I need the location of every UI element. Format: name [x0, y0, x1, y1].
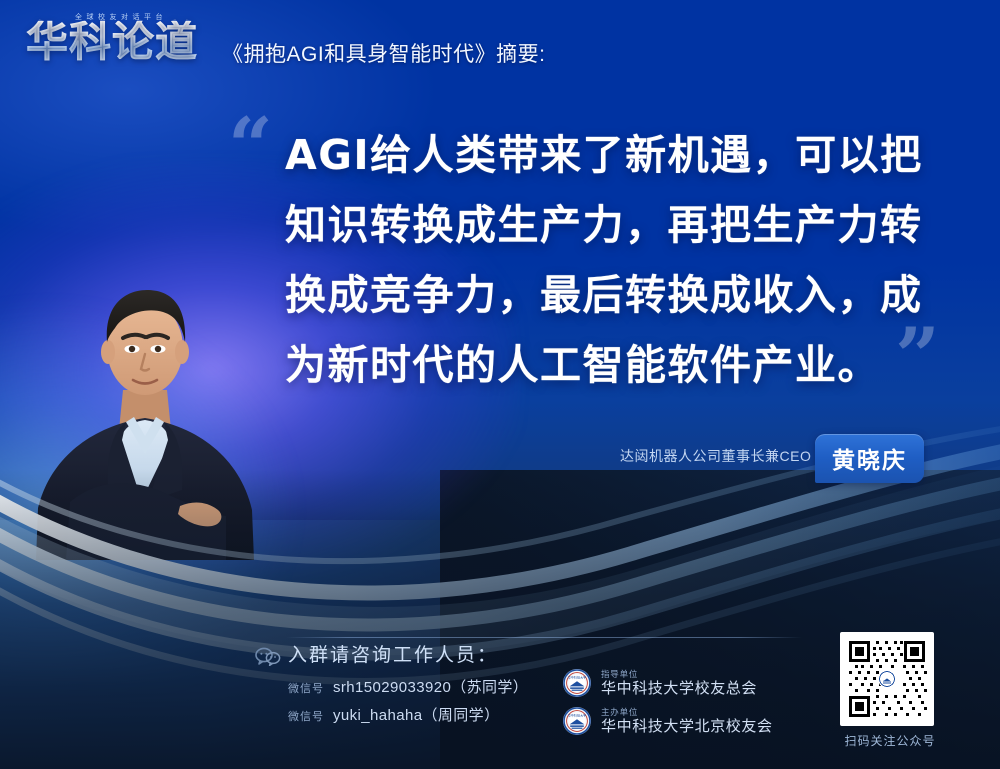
qr-block: 扫码关注公众号 [840, 632, 940, 749]
contact-value: yuki_hahaha（周同学） [333, 704, 499, 725]
organization-row: 华中科技大学 主办单位 华中科技大学北京校友会 [562, 706, 773, 736]
speaker-attribution: 达闼机器人公司董事长兼CEO 黄晓庆 [620, 446, 811, 466]
svg-text:华中科技大学: 华中科技大学 [568, 713, 587, 718]
contact-label: 微信号 [288, 708, 324, 724]
organization-kind: 主办单位 [601, 707, 773, 718]
organization-name: 华中科技大学校友总会 [601, 680, 757, 698]
speaker-name-badge: 黄晓庆 [815, 434, 924, 483]
poster-canvas: 全球校友对话平台 华科论道 《拥抱AGI和具身智能时代》摘要: “ ” AGI给… [0, 0, 1000, 769]
speaker-role: 达闼机器人公司董事长兼CEO [620, 446, 811, 466]
page-title: 《拥抱AGI和具身智能时代》摘要: [222, 38, 546, 68]
contact-block: 入群请咨询工作人员： 微信号 srh15029033920（苏同学） 微信号 y… [288, 640, 528, 732]
quote-line: AGI给人类带来了新机遇，可以把 [285, 120, 945, 190]
organization-kind: 指导单位 [601, 669, 757, 680]
organization-row: 华中科技大学 指导单位 华中科技大学校友总会 [562, 668, 773, 698]
qr-code-icon[interactable] [840, 632, 934, 726]
contact-row: 微信号 srh15029033920（苏同学） [288, 676, 528, 697]
quote-line: 知识转换成生产力，再把生产力转 [285, 190, 945, 260]
quote-text: AGI给人类带来了新机遇，可以把 知识转换成生产力，再把生产力转 换成竞争力，最… [285, 120, 945, 400]
brand-name: 华科论道 [26, 21, 198, 63]
contact-label: 微信号 [288, 680, 324, 696]
organization-text: 主办单位 华中科技大学北京校友会 [601, 707, 773, 736]
organizations-block: 华中科技大学 指导单位 华中科技大学校友总会 华中科技大学 [562, 668, 773, 744]
footer-divider [286, 637, 802, 638]
hust-emblem-icon: 华中科技大学 [562, 668, 592, 698]
wechat-icon [255, 646, 281, 666]
brand-logo: 全球校友对话平台 华科论道 [26, 12, 216, 74]
contact-row: 微信号 yuki_hahaha（周同学） [288, 704, 528, 725]
organization-text: 指导单位 华中科技大学校友总会 [601, 669, 757, 698]
contact-value: srh15029033920（苏同学） [333, 676, 528, 697]
qr-caption: 扫码关注公众号 [840, 732, 940, 749]
hust-emblem-icon: 华中科技大学 [562, 706, 592, 736]
contact-title: 入群请咨询工作人员： [288, 640, 528, 667]
poster-header: 全球校友对话平台 华科论道 《拥抱AGI和具身智能时代》摘要: [0, 0, 1000, 92]
organization-name: 华中科技大学北京校友会 [601, 718, 773, 736]
quote-open-mark: “ [228, 108, 273, 186]
svg-text:华中科技大学: 华中科技大学 [568, 675, 587, 680]
quote-line: 换成竞争力，最后转换成收入，成 [285, 260, 945, 330]
quote-line: 为新时代的人工智能软件产业。 [285, 330, 945, 400]
